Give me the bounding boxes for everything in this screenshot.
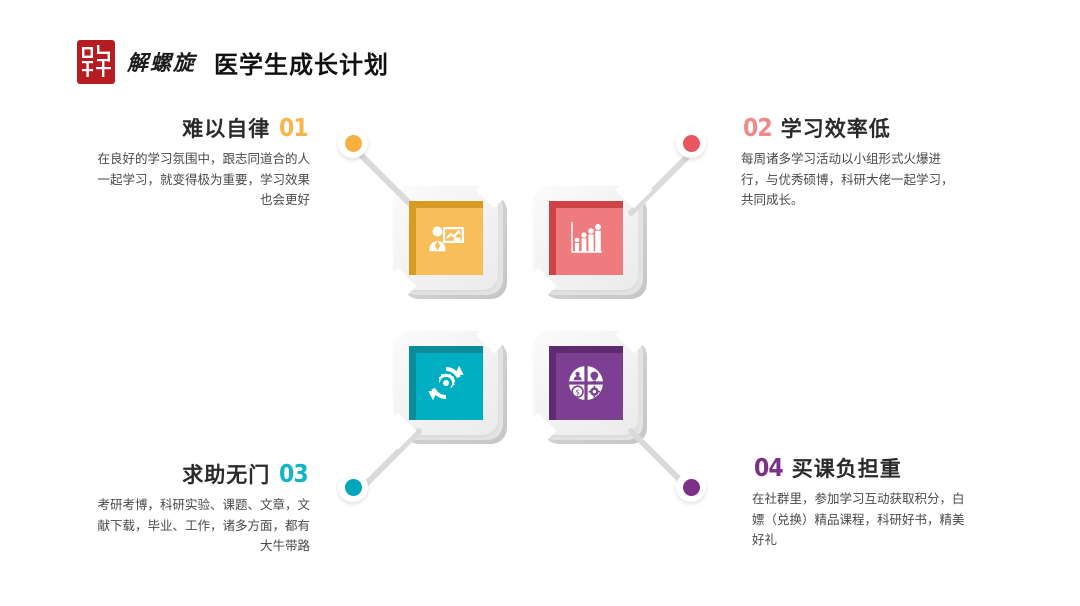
- icon-card-grid: $: [394, 186, 664, 456]
- gear-refresh-icon: [426, 363, 466, 403]
- icon-card-people-chart[interactable]: [534, 186, 638, 290]
- svg-text:$: $: [575, 388, 579, 396]
- feature-heading-03: 求助无门 03: [96, 459, 310, 489]
- feature-block-03: 求助无门 03 考研考博，科研实验、课题、文章，文献下载，毕业、工作，诸多方面，…: [96, 459, 310, 557]
- feature-number-04: 04: [754, 453, 783, 482]
- page-header: 解螺旋 医学生成长计划: [74, 36, 389, 88]
- feature-heading-01: 难以自律 01: [96, 113, 310, 143]
- quadrant-circle-icon: $: [566, 363, 606, 403]
- icon-card-quadrant[interactable]: $: [534, 331, 638, 435]
- card-tile: [409, 346, 483, 420]
- feature-title-02: 学习效率低: [781, 113, 891, 143]
- feature-title-03: 求助无门: [182, 459, 270, 489]
- dot-fill-04: [683, 479, 700, 496]
- connector-dot-03: [338, 472, 368, 502]
- tile-edge-left: [549, 346, 556, 420]
- card-tile: $: [549, 346, 623, 420]
- feature-number-03: 03: [279, 459, 308, 488]
- presenter-board-icon: [426, 218, 466, 258]
- page-title: 医学生成长计划: [214, 45, 389, 80]
- dot-fill-02: [683, 135, 700, 152]
- dot-fill-03: [345, 479, 362, 496]
- connector-dot-02: [676, 128, 706, 158]
- feature-title-04: 买课负担重: [792, 453, 902, 483]
- feature-block-01: 难以自律 01 在良好的学习氛围中，跟志同道合的人一起学习，就变得极为重要，学习…: [96, 113, 310, 211]
- tile-edge-top: [549, 346, 623, 353]
- card-tile: [549, 201, 623, 275]
- brand-name: 解螺旋: [127, 47, 196, 77]
- feature-heading-04: 04 买课负担重: [752, 453, 966, 483]
- people-bar-chart-icon: [566, 218, 606, 258]
- tile-edge-left: [549, 201, 556, 275]
- feature-body-02: 每周诸多学习活动以小组形式火爆进行，与优秀硕博，科研大佬一起学习，共同成长。: [741, 149, 955, 211]
- feature-body-04: 在社群里，参加学习互动获取积分，白嫖（兑换）精品课程，科研好书，精美好礼: [752, 489, 966, 551]
- card-tile: [409, 201, 483, 275]
- connector-dot-01: [338, 128, 368, 158]
- feature-block-02: 02 学习效率低 每周诸多学习活动以小组形式火爆进行，与优秀硕博，科研大佬一起学…: [741, 113, 955, 211]
- feature-title-01: 难以自律: [182, 113, 270, 143]
- tile-edge-top: [549, 201, 623, 208]
- connector-dot-04: [676, 472, 706, 502]
- feature-body-03: 考研考博，科研实验、课题、文章，文献下载，毕业、工作，诸多方面，都有大牛带路: [96, 495, 310, 557]
- tile-edge-left: [409, 201, 416, 275]
- tile-edge-top: [409, 201, 483, 208]
- feature-heading-02: 02 学习效率低: [741, 113, 955, 143]
- brand-seal-icon: [74, 38, 118, 86]
- dot-fill-01: [345, 135, 362, 152]
- feature-block-04: 04 买课负担重 在社群里，参加学习互动获取积分，白嫖（兑换）精品课程，科研好书…: [752, 453, 966, 551]
- feature-body-01: 在良好的学习氛围中，跟志同道合的人一起学习，就变得极为重要，学习效果也会更好: [96, 149, 310, 211]
- tile-edge-top: [409, 346, 483, 353]
- feature-number-01: 01: [279, 113, 308, 142]
- tile-edge-left: [409, 346, 416, 420]
- icon-card-presenter[interactable]: [394, 186, 498, 290]
- feature-number-02: 02: [743, 113, 772, 142]
- icon-card-gear-cycle[interactable]: [394, 331, 498, 435]
